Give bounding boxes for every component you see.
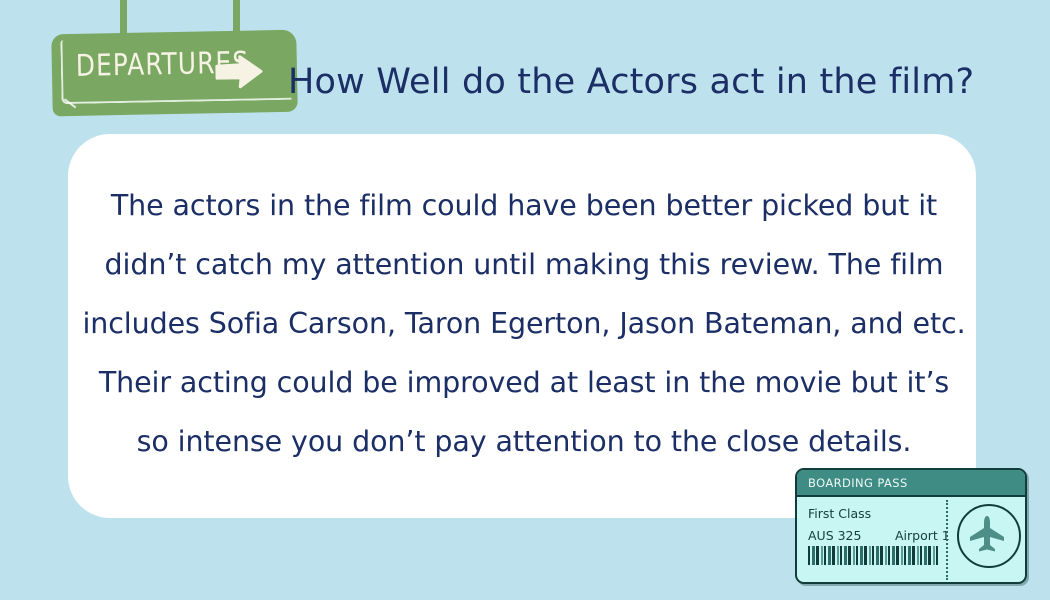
boarding-pass-graphic: BOARDING PASS First Class AUS 325 Airpor… [795,468,1027,584]
content-card: The actors in the film could have been b… [68,134,976,518]
review-body-text: The actors in the film could have been b… [82,176,966,471]
sign-bevel-corner [64,98,76,108]
airplane-icon [967,514,1007,554]
arrow-right-icon [215,54,264,89]
page-title: How Well do the Actors act in the film? [288,60,988,104]
departures-sign: DEPARTURES [52,0,312,125]
boarding-pass-header-label: BOARDING PASS [808,476,908,490]
barcode-icon [808,546,938,565]
boarding-pass-airport: Airport 1 [895,528,950,543]
boarding-pass-perforation [946,500,948,580]
sign-board: DEPARTURES [51,30,298,117]
boarding-pass-flight: AUS 325 [808,528,861,543]
boarding-pass-plane-badge [957,504,1021,568]
slide-canvas: DEPARTURES How Well do the Actors act in… [0,0,1050,600]
boarding-pass-class: First Class [808,506,871,521]
